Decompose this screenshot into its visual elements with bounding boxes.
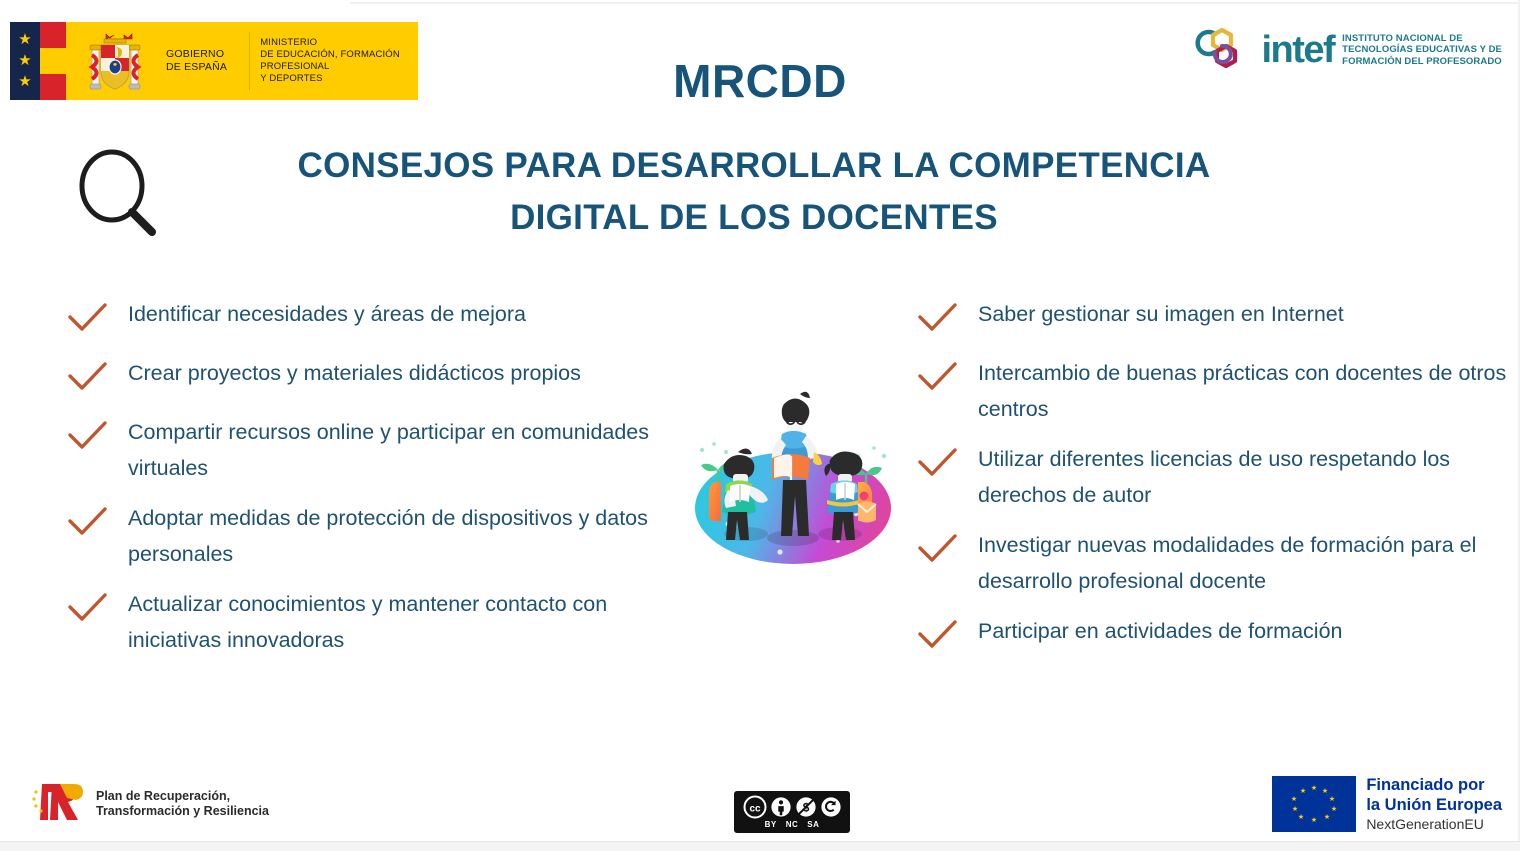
tip-text: Adoptar medidas de protección de disposi… xyxy=(128,500,688,572)
svg-text:★: ★ xyxy=(1298,813,1304,821)
check-icon xyxy=(66,500,110,545)
cc-icon-group: cc $ xyxy=(743,795,842,819)
tips-column-right: Saber gestionar su imagen en Internet In… xyxy=(916,296,1516,672)
bottom-divider xyxy=(0,841,1520,851)
check-icon xyxy=(916,296,960,341)
page-title: MRCDD xyxy=(0,54,1520,108)
prtr-line-1: Plan de Recuperación, xyxy=(96,789,269,804)
svg-text:★: ★ xyxy=(1324,813,1330,821)
teachers-illustration xyxy=(688,386,898,576)
prtr-logo: Plan de Recuperación, Transformación y R… xyxy=(30,778,269,829)
eu-line-1: Financiado por xyxy=(1366,775,1502,795)
headline-line-1: CONSEJOS PARA DESARROLLAR LA COMPETENCIA xyxy=(188,140,1320,192)
eu-funding-logo: ★ ★ ★ ★ ★ ★ ★ ★ ★ ★ Financiado por la Un… xyxy=(1272,775,1502,833)
headline-text: CONSEJOS PARA DESARROLLAR LA COMPETENCIA… xyxy=(188,140,1370,244)
tip-text: Participar en actividades de formación xyxy=(978,613,1343,649)
tip-text: Utilizar diferentes licencias de uso res… xyxy=(978,441,1516,513)
check-icon xyxy=(66,414,110,459)
list-item: Compartir recursos online y participar e… xyxy=(66,414,706,486)
magnifier-icon xyxy=(70,140,170,245)
cc-label-sa: SA xyxy=(807,820,819,829)
check-icon xyxy=(916,527,960,572)
tips-column-left: Identificar necesidades y áreas de mejor… xyxy=(66,296,706,672)
svg-text:★: ★ xyxy=(1311,784,1317,792)
check-icon xyxy=(66,355,110,400)
tip-text: Compartir recursos online y participar e… xyxy=(128,414,688,486)
eu-line-3: NextGenerationEU xyxy=(1366,815,1502,833)
star-icon: ★ xyxy=(18,33,31,47)
svg-text:★: ★ xyxy=(1300,787,1306,795)
tip-text: Investigar nuevas modalidades de formaci… xyxy=(978,527,1516,599)
svg-text:★: ★ xyxy=(1291,795,1297,803)
eu-flag-icon: ★ ★ ★ ★ ★ ★ ★ ★ ★ ★ xyxy=(1272,776,1356,832)
svg-text:★: ★ xyxy=(1322,787,1328,795)
svg-text:★: ★ xyxy=(1329,795,1335,803)
svg-text:★: ★ xyxy=(1331,805,1337,813)
slide-canvas: ★ ★ ★ xyxy=(0,0,1520,851)
list-item: Participar en actividades de formación xyxy=(916,613,1516,658)
list-item: Utilizar diferentes licencias de uso res… xyxy=(916,441,1516,513)
ministry-line-1: MINISTERIO xyxy=(260,37,418,49)
list-item: Crear proyectos y materiales didácticos … xyxy=(66,355,706,400)
list-item: Adoptar medidas de protección de disposi… xyxy=(66,500,706,572)
top-divider xyxy=(350,2,1520,4)
cc-by-icon xyxy=(770,796,792,818)
prtr-text: Plan de Recuperación, Transformación y R… xyxy=(96,789,269,819)
svg-text:★: ★ xyxy=(1292,805,1298,813)
cc-sa-icon xyxy=(820,796,842,818)
svg-text:★: ★ xyxy=(1311,816,1317,824)
check-icon xyxy=(916,441,960,486)
creative-commons-badge[interactable]: cc $ BY NC SA xyxy=(734,791,850,833)
check-icon xyxy=(66,296,110,341)
list-item: Intercambio de buenas prácticas con doce… xyxy=(916,355,1516,427)
tip-text: Saber gestionar su imagen en Internet xyxy=(978,296,1344,332)
cc-label-by: BY xyxy=(765,820,777,829)
headline-line-2: DIGITAL DE LOS DOCENTES xyxy=(188,192,1320,244)
check-icon xyxy=(916,355,960,400)
prtr-mark-icon xyxy=(30,778,86,829)
check-icon xyxy=(916,613,960,658)
headline-row: CONSEJOS PARA DESARROLLAR LA COMPETENCIA… xyxy=(70,140,1370,245)
list-item: Saber gestionar su imagen en Internet xyxy=(916,296,1516,341)
tip-text: Crear proyectos y materiales didácticos … xyxy=(128,355,581,391)
check-icon xyxy=(66,586,110,631)
svg-text:cc: cc xyxy=(749,804,761,815)
cc-icon: cc xyxy=(743,795,767,819)
tip-text: Intercambio de buenas prácticas con doce… xyxy=(978,355,1516,427)
cc-labels: BY NC SA xyxy=(765,820,820,829)
eu-logo-text: Financiado por la Unión Europea NextGene… xyxy=(1366,775,1502,833)
list-item: Identificar necesidades y áreas de mejor… xyxy=(66,296,706,341)
tip-text: Identificar necesidades y áreas de mejor… xyxy=(128,296,526,332)
list-item: Actualizar conocimientos y mantener cont… xyxy=(66,586,706,658)
tip-text: Actualizar conocimientos y mantener cont… xyxy=(128,586,688,658)
eu-line-2: la Unión Europea xyxy=(1366,795,1502,815)
cc-label-nc: NC xyxy=(786,820,799,829)
intef-sub-line-1: INSTITUTO NACIONAL DE xyxy=(1342,33,1502,45)
prtr-line-2: Transformación y Resiliencia xyxy=(96,804,269,819)
cc-nc-icon: $ xyxy=(795,796,817,818)
list-item: Investigar nuevas modalidades de formaci… xyxy=(916,527,1516,599)
